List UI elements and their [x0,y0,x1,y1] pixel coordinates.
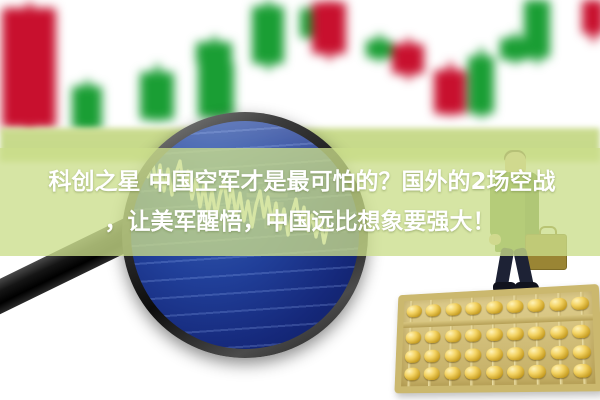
abacus-bead [424,350,440,363]
abacus-bead [549,298,567,312]
abacus-bead [486,348,503,361]
candlestick-body [366,40,392,58]
abacus-bead [528,346,546,360]
abacus-bead [465,302,481,315]
candlestick-body [392,44,424,74]
abacus-bead [426,304,442,317]
candlestick-body [252,6,284,64]
abacus-bead [507,327,524,340]
news-thumbnail-image: 股市 科创之星 中国空军才是最可怕 [0,0,600,400]
candlestick-body [524,0,550,58]
title-text-block: 科创之星 中国空军才是最可怕的？国外的2场空战 ，让美军醒悟，中国远比想象要强大… [0,148,600,256]
candlestick-body [140,72,174,120]
abacus-bead [424,367,440,380]
abacus-bead [550,346,568,360]
abacus [394,284,600,393]
candlestick-body [72,86,102,130]
abacus-bead [507,300,524,313]
abacus-bead [425,330,441,343]
abacus-bead [528,299,545,313]
abacus-bead [507,365,524,379]
candlestick-body [468,56,494,114]
abacus-bead [486,301,503,314]
abacus-bead [465,348,482,361]
abacus-bead [405,350,421,363]
abacus-bead [445,330,461,343]
abacus-bead [550,325,568,339]
abacus-bead [571,296,589,310]
abacus-bead [529,365,547,379]
abacus-bead [507,347,524,361]
abacus-bead [551,364,569,378]
abacus-bead [405,331,421,344]
abacus-bead [406,305,422,318]
abacus-bead [445,303,461,316]
abacus-bead [465,366,482,379]
abacus-bead [573,364,592,378]
abacus-bead [486,366,503,379]
candlestick-body [434,70,466,114]
candlestick-body [582,0,600,34]
abacus-bead [444,367,461,380]
candlestick-body [198,62,234,118]
abacus-bead [486,328,503,341]
candlestick-body [2,8,56,128]
abacus-bead [444,349,460,362]
headline-line-1: 科创之星 中国空军才是最可怕的？国外的2场空战 [44,162,555,202]
candlestick-body [312,2,346,54]
abacus-bead [528,326,546,340]
abacus-bead [465,329,481,342]
headline-line-2: ，让美军醒悟，中国远比想象要强大！ [105,202,496,242]
abacus-bead [573,345,592,359]
abacus-bead [404,368,420,381]
abacus-bead [572,324,590,338]
